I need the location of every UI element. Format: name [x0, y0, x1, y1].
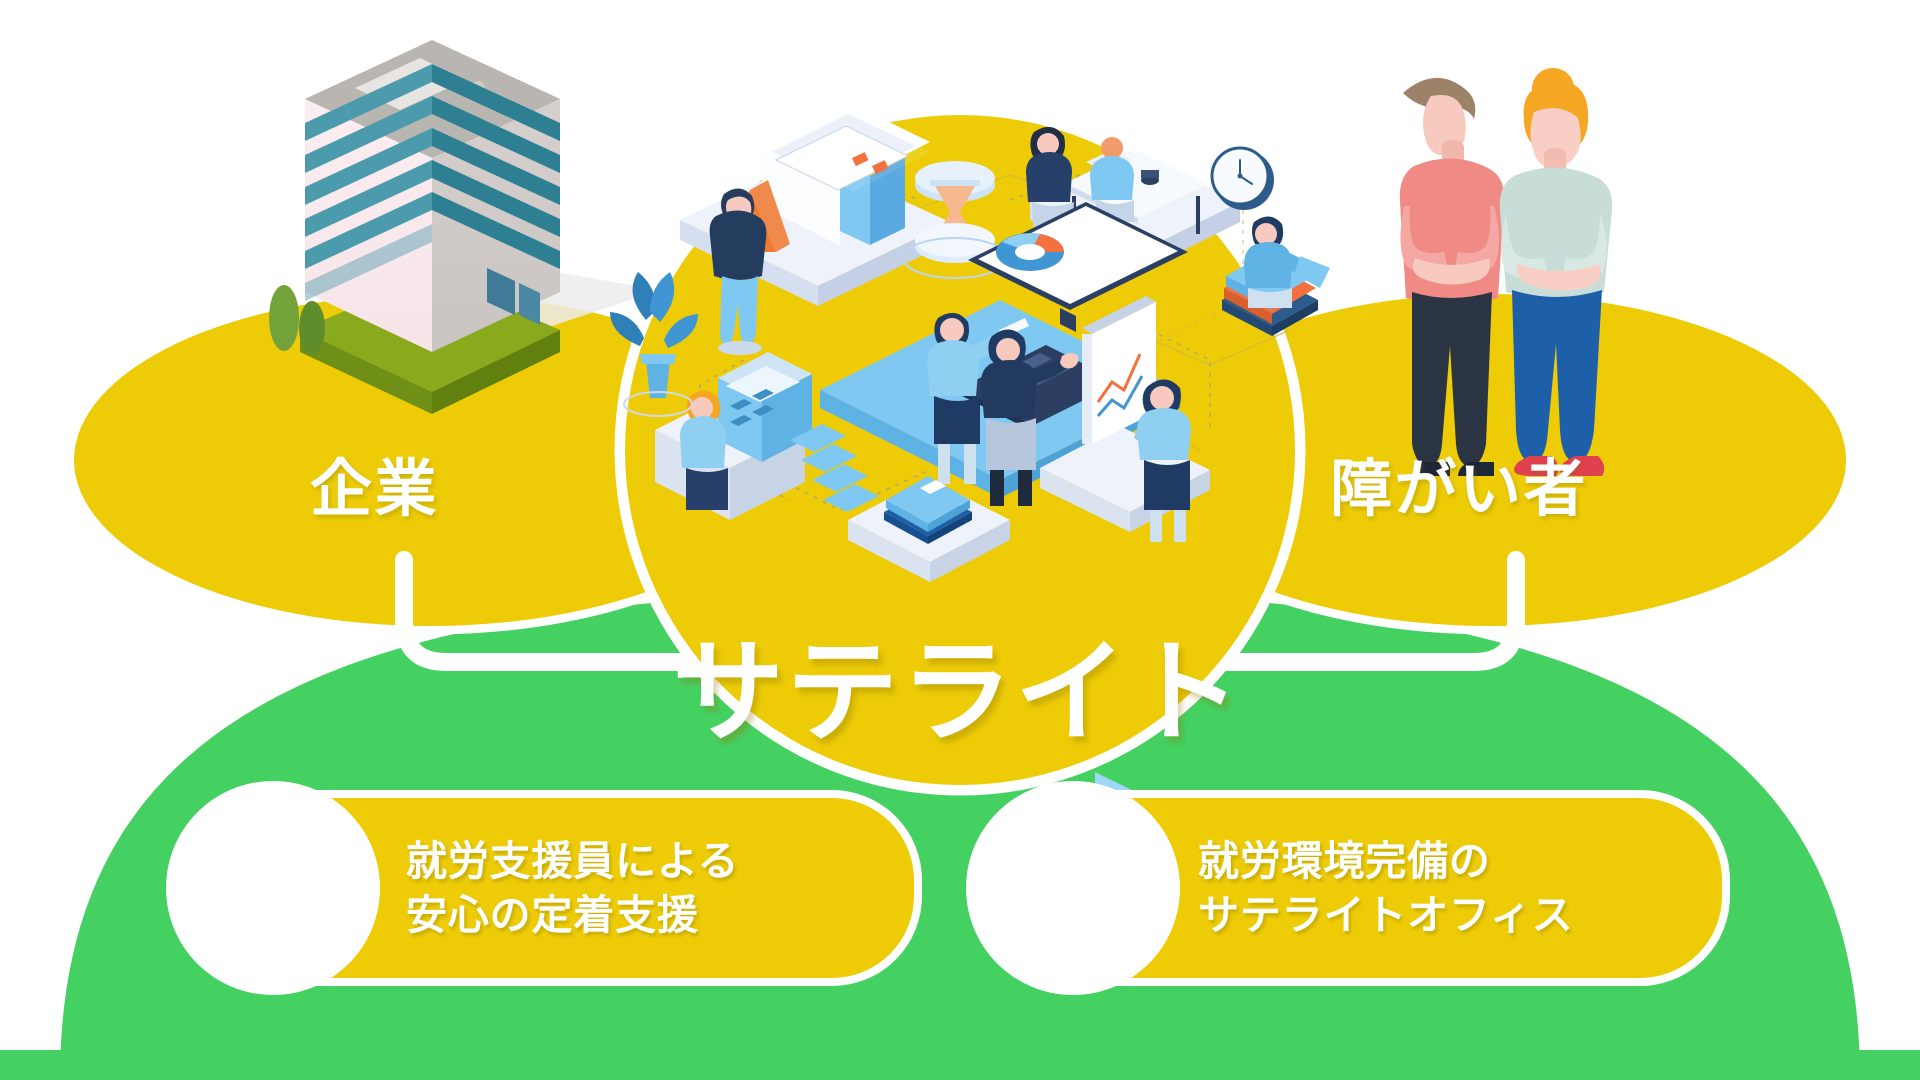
feature-pill-support-staff[interactable]: 就労支援員による 安心の定着支援 — [178, 790, 922, 986]
infographic-canvas: 企業 障がい者 サテライト 就労支援員による 安心の定着支援 就労環境完備の サ… — [0, 0, 1920, 1080]
support-staff-label: 就労支援員による 安心の定着支援 — [406, 834, 739, 942]
satellite-office-badge-icon — [974, 789, 1172, 987]
satellite-office-label: 就労環境完備の サテライトオフィス — [1198, 834, 1574, 942]
feature-pill-satellite-office[interactable]: 就労環境完備の サテライトオフィス — [978, 790, 1730, 986]
support-staff-badge-icon — [174, 789, 372, 987]
